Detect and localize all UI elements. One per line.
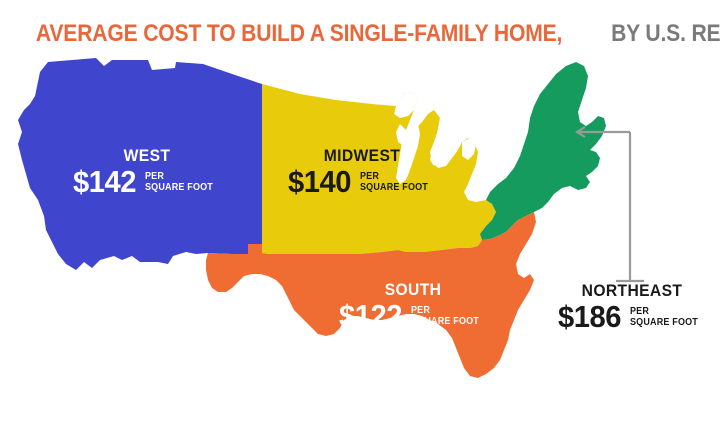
title-subtitle-text: BY U.S. REGION	[611, 20, 720, 48]
map-region-northeast[interactable]	[480, 62, 606, 240]
us-region-map: WEST $142 PER SQUARE FOOT MIDWEST $140 P…	[0, 48, 720, 439]
map-region-midwest[interactable]	[262, 84, 496, 254]
map-region-west[interactable]	[18, 58, 262, 270]
great-lakes-superior	[394, 92, 418, 118]
page-title: AVERAGE COST TO BUILD A SINGLE-FAMILY HO…	[0, 20, 720, 48]
us-map-svg	[0, 48, 720, 439]
title-main-text: AVERAGE COST TO BUILD A SINGLE-FAMILY HO…	[36, 20, 562, 48]
